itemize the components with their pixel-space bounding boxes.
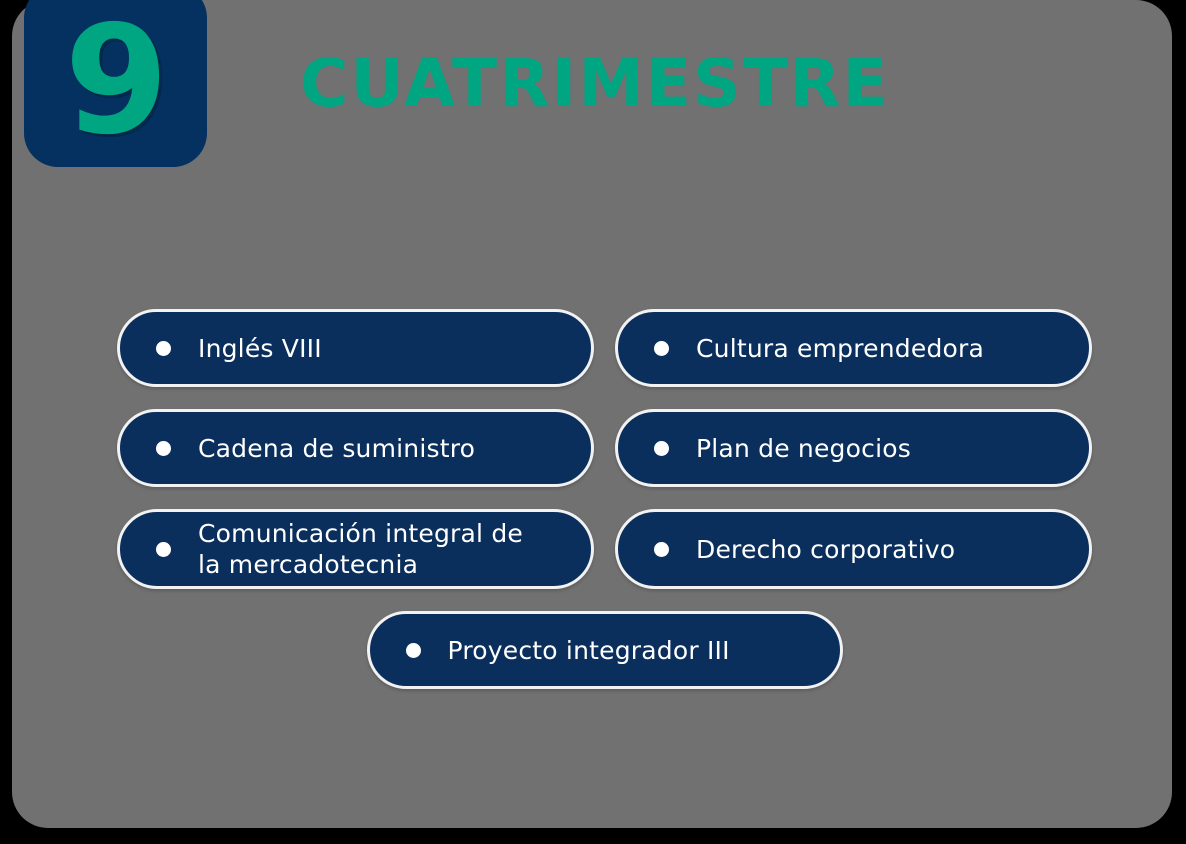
bullet-icon xyxy=(654,542,669,557)
bullet-icon xyxy=(406,643,421,658)
course-pill-plan-de-negocios[interactable]: Plan de negocios xyxy=(615,409,1092,487)
course-label: Proyecto integrador III xyxy=(448,635,730,666)
course-grid: Inglés VIII Cultura emprendedora Cadena … xyxy=(117,309,1092,711)
course-pill-proyecto-integrador-iii[interactable]: Proyecto integrador III xyxy=(367,611,843,689)
course-label: Cultura emprendedora xyxy=(696,333,984,364)
course-label: Comunicación integral de la mercadotecni… xyxy=(198,518,543,580)
slide-stage: 9 CUATRIMESTRE Inglés VIII Cultura empre… xyxy=(0,0,1186,844)
course-pill-derecho-corporativo[interactable]: Derecho corporativo xyxy=(615,509,1092,589)
course-label: Cadena de suministro xyxy=(198,433,475,464)
course-label: Inglés VIII xyxy=(198,333,322,364)
course-label: Derecho corporativo xyxy=(696,534,955,565)
bullet-icon xyxy=(654,441,669,456)
course-pill-cadena-de-suministro[interactable]: Cadena de suministro xyxy=(117,409,594,487)
bullet-icon xyxy=(654,341,669,356)
quarter-number: 9 xyxy=(64,6,166,156)
bullet-icon xyxy=(156,341,171,356)
course-pill-ingles-viii[interactable]: Inglés VIII xyxy=(117,309,594,387)
quarter-card: 9 CUATRIMESTRE Inglés VIII Cultura empre… xyxy=(12,0,1172,828)
bullet-icon xyxy=(156,441,171,456)
page-title: CUATRIMESTRE xyxy=(300,40,890,128)
course-label: Plan de negocios xyxy=(696,433,911,464)
quarter-number-badge: 9 xyxy=(24,0,207,167)
course-row: Cadena de suministro Plan de negocios xyxy=(117,409,1092,487)
course-row-final: Proyecto integrador III xyxy=(117,611,1092,689)
course-pill-cultura-emprendedora[interactable]: Cultura emprendedora xyxy=(615,309,1092,387)
course-row: Comunicación integral de la mercadotecni… xyxy=(117,509,1092,589)
bullet-icon xyxy=(156,542,171,557)
course-row: Inglés VIII Cultura emprendedora xyxy=(117,309,1092,387)
course-pill-comunicacion-integral[interactable]: Comunicación integral de la mercadotecni… xyxy=(117,509,594,589)
